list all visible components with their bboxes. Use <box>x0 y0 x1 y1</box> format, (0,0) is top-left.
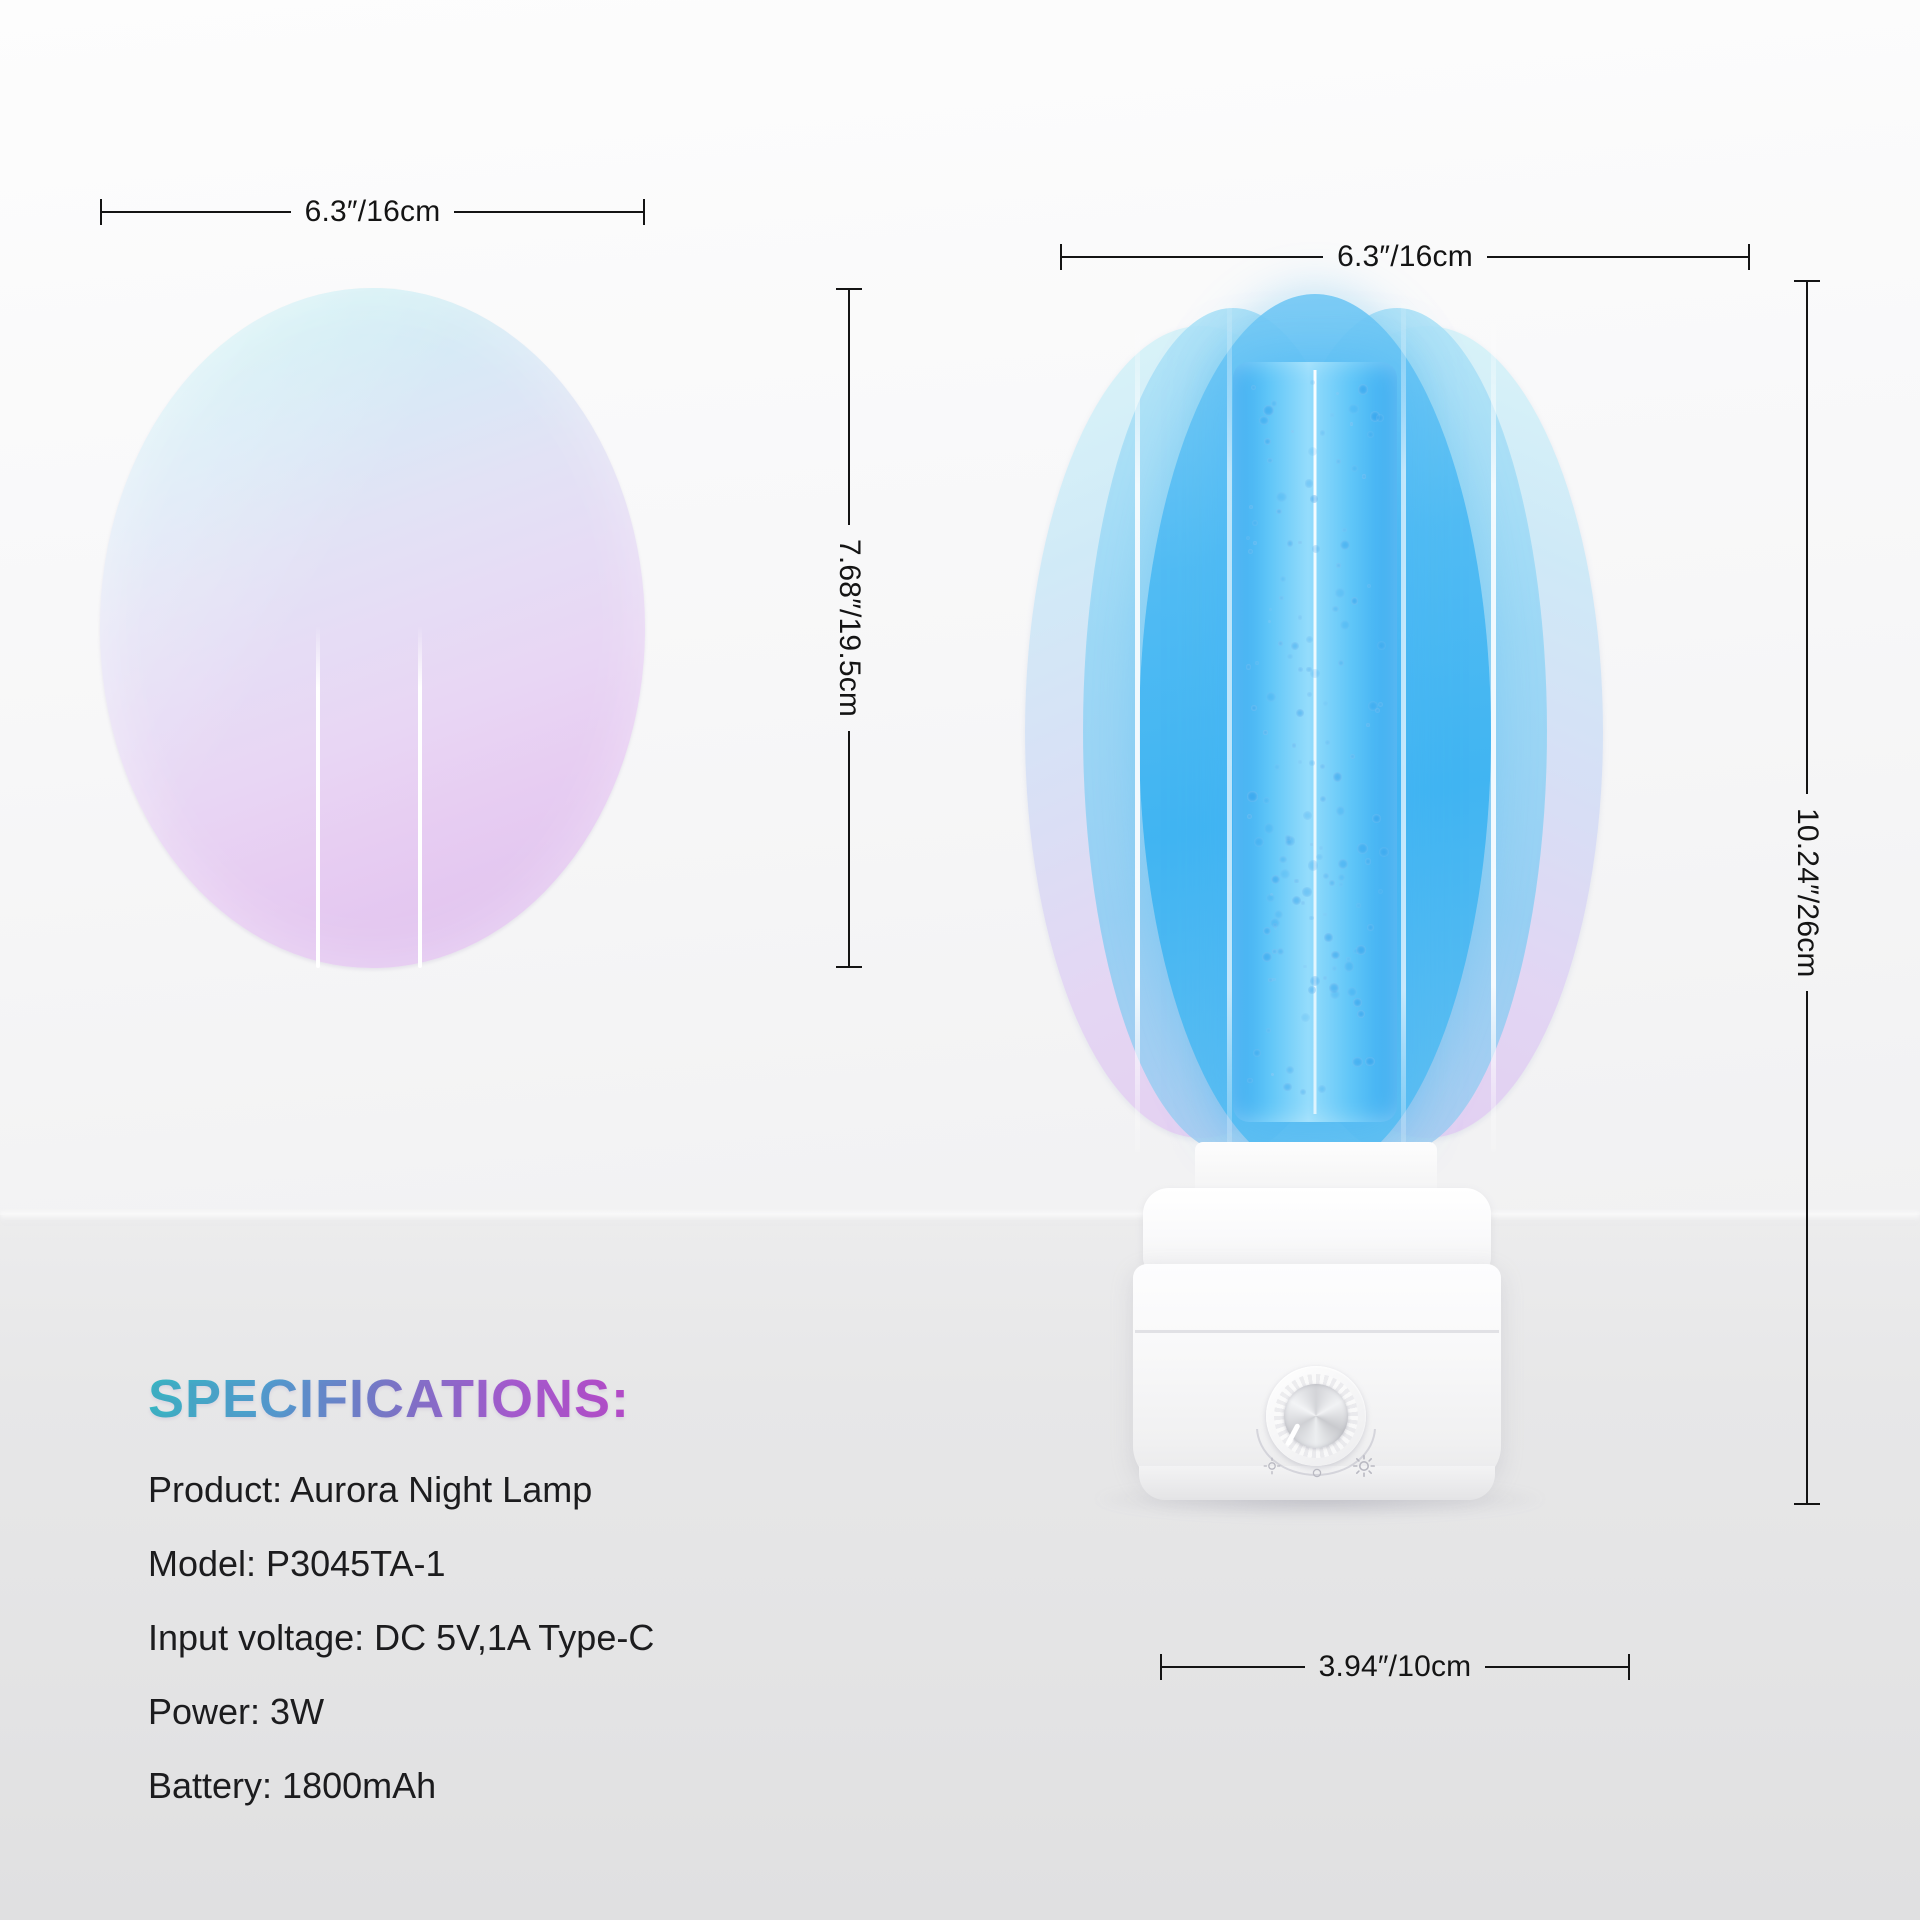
tube-bubble <box>1333 772 1343 782</box>
tube-bubble <box>1287 654 1293 660</box>
dimension-bar-right <box>454 211 643 213</box>
tube-bubble <box>1268 978 1272 982</box>
assembled-lit-lamp-view <box>1035 280 1595 1600</box>
tube-bubble <box>1274 764 1280 770</box>
tube-bubble <box>1270 918 1280 928</box>
dimension-right-width: 6.3″/16cm <box>1060 240 1750 274</box>
tube-bubble <box>1266 1028 1272 1034</box>
spec-row-power: Power: 3W <box>148 1694 908 1730</box>
dimension-right-width-label: 6.3″/16cm <box>1323 240 1487 274</box>
spec-row-model: Model: P3045TA-1 <box>148 1546 908 1582</box>
tube-bubble <box>1378 889 1383 894</box>
tube-bubble <box>1353 998 1362 1007</box>
spec-row-product: Product: Aurora Night Lamp <box>148 1472 908 1508</box>
dimension-cap-bottom <box>836 966 862 968</box>
tube-bubble <box>1338 874 1344 880</box>
tube-bubble <box>1376 414 1384 422</box>
panel-seam-right <box>418 626 422 968</box>
tube-bubble <box>1263 927 1271 935</box>
tube-bubble <box>1309 916 1314 921</box>
tube-bubble <box>1278 641 1283 646</box>
tube-bubble <box>1362 474 1367 479</box>
dimension-bar-right <box>1487 256 1748 258</box>
tube-bubble <box>1336 459 1341 464</box>
lamp-base-groove <box>1135 1330 1499 1333</box>
tube-bubble <box>1310 495 1318 503</box>
tube-bubble <box>1325 740 1330 745</box>
tube-bubble <box>1330 413 1334 417</box>
spec-row-input-voltage: Input voltage: DC 5V,1A Type-C <box>148 1620 908 1656</box>
tube-bubble <box>1332 966 1337 971</box>
tube-bubble <box>1336 806 1345 815</box>
tube-bubble <box>1351 465 1358 472</box>
dimension-cap-end <box>1748 244 1750 270</box>
tube-bubble <box>1268 620 1271 623</box>
dimension-right-height-label: 10.24″/26cm <box>1790 794 1824 992</box>
dimension-bar-bottom <box>1806 991 1808 1503</box>
tube-bubble <box>1303 811 1312 820</box>
tube-bubble <box>1277 948 1284 955</box>
dimension-bar-top <box>1806 282 1808 794</box>
tube-bubble <box>1287 540 1294 547</box>
tube-bubble <box>1340 540 1350 550</box>
tube-bubble <box>1316 854 1323 861</box>
dimension-cap-end <box>1628 1654 1630 1680</box>
tube-bubble <box>1248 549 1253 554</box>
tube-filament <box>1314 370 1317 1114</box>
lamp-base-top <box>1143 1188 1491 1274</box>
tube-bubble <box>1251 385 1257 391</box>
tube-bubble <box>1378 702 1383 707</box>
tube-bubble <box>1283 1083 1291 1091</box>
tube-bubble <box>1347 987 1357 997</box>
tube-bubble <box>1323 913 1326 916</box>
tube-bubble <box>1319 846 1324 851</box>
tube-bubble <box>1300 1089 1306 1095</box>
dimension-cap-end <box>643 199 645 225</box>
dimension-bar-right <box>1485 1666 1628 1668</box>
tube-bubble <box>1350 754 1355 759</box>
tube-bubble <box>1309 760 1315 766</box>
tube-bubble <box>1272 949 1276 953</box>
tube-bubble <box>1291 642 1299 650</box>
tube-bubble <box>1324 933 1332 941</box>
tube-bubble <box>1247 1078 1253 1084</box>
tube-bubble <box>1306 636 1313 643</box>
tube-bubble <box>1365 1057 1375 1067</box>
panel-seam-left <box>316 626 320 968</box>
tube-bubble <box>1302 887 1311 896</box>
tube-bubble <box>1264 823 1274 833</box>
tube-bubble <box>1276 509 1281 514</box>
dimension-left-height-label: 7.68″/19.5cm <box>832 525 866 731</box>
tube-bubble <box>1340 620 1350 630</box>
tube-bubble <box>1350 422 1353 425</box>
tube-bubble <box>1336 392 1339 395</box>
tube-bubble <box>1259 416 1269 426</box>
low-brightness-icon <box>1262 1456 1282 1481</box>
tube-bubble <box>1307 692 1312 697</box>
tube-bubble <box>1368 701 1378 711</box>
folded-panel-view <box>100 288 645 968</box>
tube-bubble <box>1286 1066 1294 1074</box>
tube-bubble <box>1264 438 1271 445</box>
dimension-right-height: 10.24″/26cm <box>1790 280 1824 1505</box>
tube-bubble <box>1351 597 1359 605</box>
tube-bubble <box>1292 743 1296 747</box>
tube-bubble <box>1342 528 1347 533</box>
blade-rib-3 <box>1401 300 1406 1162</box>
tube-bubble <box>1263 730 1267 734</box>
off-dot-icon <box>1310 1466 1324 1485</box>
tube-bubble <box>1269 608 1272 611</box>
tube-bubble <box>1279 856 1287 864</box>
tube-bubble <box>1296 709 1304 717</box>
dimension-bar-bottom <box>848 731 850 966</box>
tube-bubble <box>1254 837 1264 847</box>
tube-bubble <box>1365 858 1371 864</box>
dimension-left-width-label: 6.3″/16cm <box>291 195 455 229</box>
blade-rib-1 <box>1135 318 1140 1152</box>
tube-bubble <box>1312 545 1320 553</box>
tube-bubble <box>1357 1010 1365 1018</box>
tube-bubble <box>1280 576 1285 581</box>
tube-bubble <box>1320 764 1325 769</box>
tube-bubble <box>1247 814 1252 819</box>
tube-bubble <box>1332 606 1339 613</box>
tube-bubble <box>1262 952 1272 962</box>
tube-bubble <box>1310 669 1320 679</box>
tube-bubble <box>1267 458 1273 464</box>
dimension-bar-left <box>1062 256 1323 258</box>
tube-bubble <box>1339 882 1343 886</box>
dimension-base-width-label: 3.94″/10cm <box>1305 1650 1486 1684</box>
tube-bubble <box>1247 791 1257 801</box>
tube-bubble <box>1367 924 1374 931</box>
tube-bubble <box>1320 430 1326 436</box>
tube-bubble <box>1323 701 1328 706</box>
tube-bubble <box>1320 796 1326 802</box>
tube-bubble <box>1310 976 1320 986</box>
tube-bubble <box>1338 859 1347 868</box>
tube-bubble <box>1356 945 1366 955</box>
tube-bubble <box>1305 479 1314 488</box>
tube-bubble <box>1308 860 1318 870</box>
blade-rib-4 <box>1491 318 1496 1152</box>
tube-bubble <box>1249 505 1253 509</box>
tube-bubble <box>1348 404 1358 414</box>
tube-bubble <box>1294 879 1299 884</box>
tube-bubble <box>1335 588 1344 597</box>
dimension-cap-bottom <box>1794 1503 1820 1505</box>
tube-bubble <box>1271 1073 1274 1076</box>
tube-bubble <box>1303 965 1306 968</box>
tube-bubble <box>1298 760 1302 764</box>
tube-bubble <box>1358 384 1368 394</box>
blade-rib-2 <box>1227 300 1232 1162</box>
dimension-bar-left <box>102 211 291 213</box>
tube-bubble <box>1271 875 1280 884</box>
tube-bubble <box>1266 692 1276 702</box>
tube-bubble <box>1246 536 1250 540</box>
spec-row-battery: Battery: 1800mAh <box>148 1768 908 1804</box>
tube-bubble <box>1344 961 1355 972</box>
dimension-bar-left <box>1162 1666 1305 1668</box>
tube-bubble <box>1246 664 1251 669</box>
tube-bubble <box>1352 1057 1362 1067</box>
tube-bubble <box>1366 723 1370 727</box>
tube-bubble <box>1292 896 1302 906</box>
tube-bubble <box>1367 584 1371 588</box>
dimension-base-width: 3.94″/10cm <box>1160 1650 1630 1684</box>
tube-bubble <box>1253 1049 1261 1057</box>
tube-bubble <box>1272 978 1275 981</box>
tube-bubble <box>1301 901 1305 905</box>
tube-bubble <box>1377 641 1386 650</box>
tube-bubble <box>1357 843 1368 854</box>
aurora-panel-surface <box>100 288 645 968</box>
tube-bubble <box>1298 541 1302 545</box>
tube-bubble <box>1367 431 1374 438</box>
uv-light-tube <box>1233 362 1397 1122</box>
dimension-bar-top <box>848 290 850 525</box>
tabletop-edge-highlight <box>0 1212 1920 1222</box>
tube-bubble <box>1252 520 1258 526</box>
tube-bubble <box>1279 596 1283 600</box>
tube-bubble <box>1291 430 1295 434</box>
high-brightness-icon <box>1352 1454 1376 1483</box>
brightness-knob[interactable] <box>1240 1366 1392 1492</box>
specifications-block: SPECIFICATIONS: Product: Aurora Night La… <box>148 1368 908 1804</box>
tube-bubble <box>1379 847 1389 857</box>
tube-bubble <box>1338 660 1344 666</box>
tube-bubble <box>1323 873 1329 879</box>
tube-bubble <box>1263 405 1274 416</box>
tube-bubble <box>1330 990 1340 1000</box>
tube-bubble <box>1323 976 1327 980</box>
tube-bubble <box>1372 814 1381 823</box>
tube-bubble <box>1356 903 1361 908</box>
tube-bubble <box>1318 1085 1326 1093</box>
tube-bubble <box>1253 541 1257 545</box>
tube-bubble <box>1255 661 1259 665</box>
tube-bubble <box>1336 563 1341 568</box>
tube-bubble <box>1298 615 1303 620</box>
tube-bubble <box>1276 492 1287 503</box>
tube-bubble <box>1308 447 1317 456</box>
tube-bubble <box>1251 705 1257 711</box>
tube-bubble <box>1280 869 1290 879</box>
tube-bubble <box>1263 797 1270 804</box>
dimension-left-width: 6.3″/16cm <box>100 195 645 229</box>
tube-bubble <box>1301 1013 1310 1022</box>
product-scene: 6.3″/16cm 7.68″/19.5cm 6.3″/16cm <box>0 0 1920 1920</box>
dimension-left-height: 7.68″/19.5cm <box>832 288 866 968</box>
tube-bubble <box>1331 951 1339 959</box>
tube-bubble <box>1266 894 1275 903</box>
tube-bubble <box>1298 667 1303 672</box>
tube-bubble <box>1329 880 1334 885</box>
specifications-heading: SPECIFICATIONS: <box>148 1368 908 1430</box>
tube-bubble <box>1346 957 1351 962</box>
